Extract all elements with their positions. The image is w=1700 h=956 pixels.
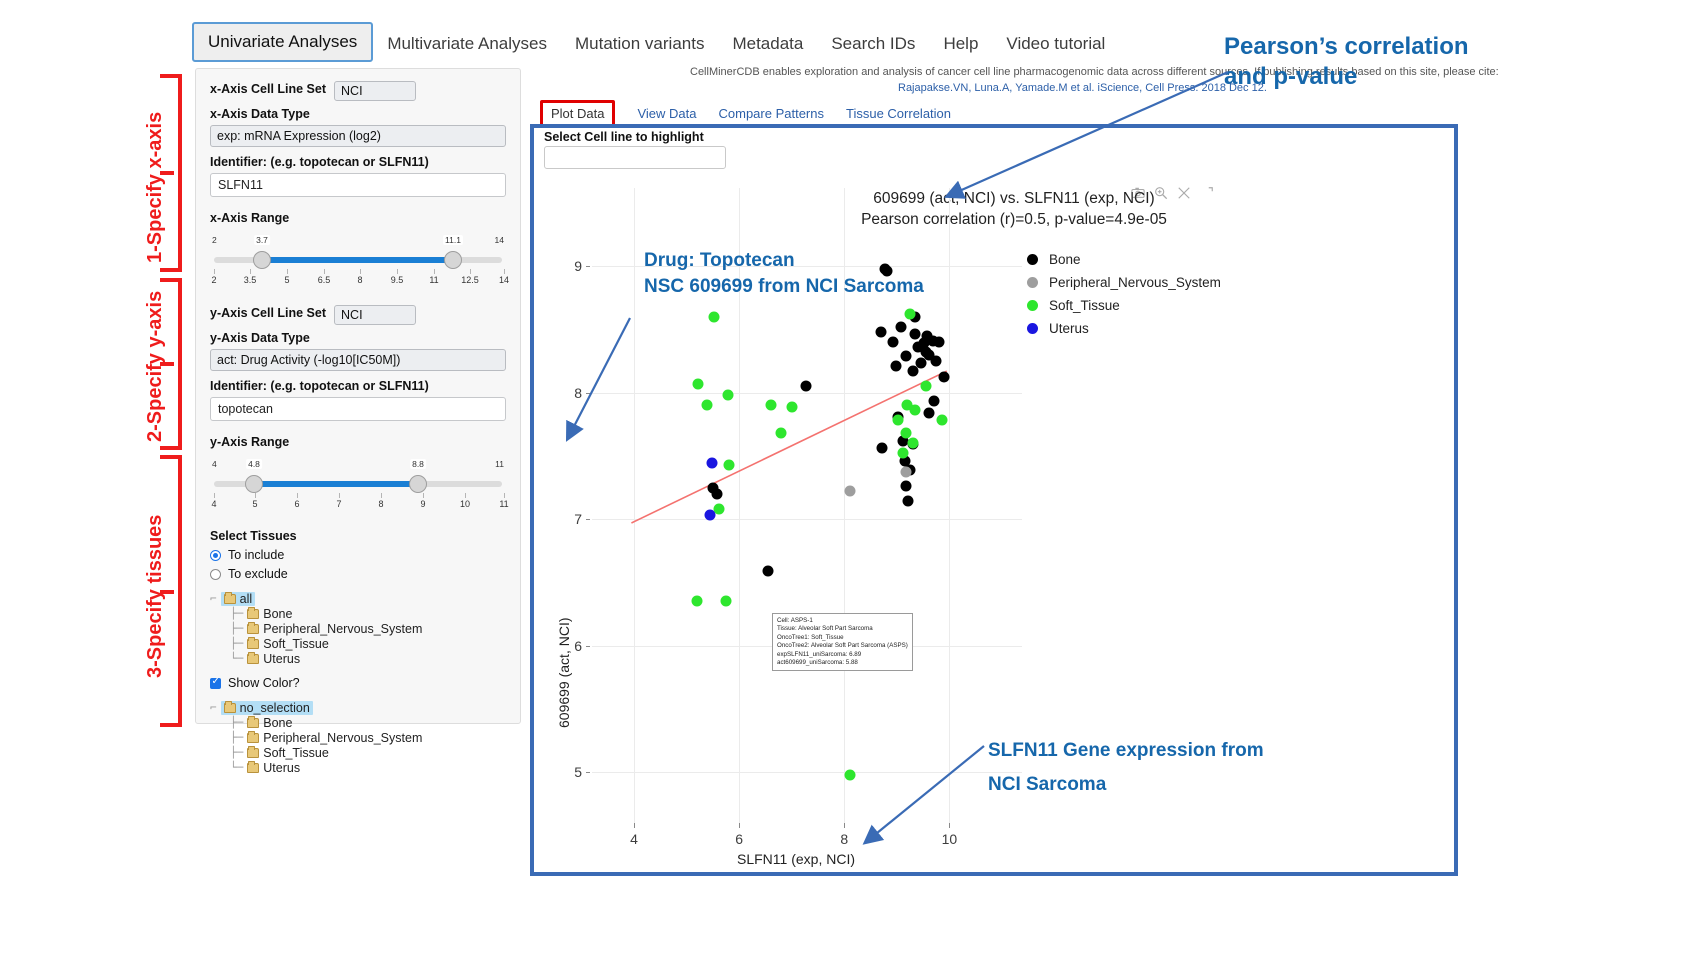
annotation-drug-line2: NSC 609699 from NCI Sarcoma	[644, 274, 924, 300]
tree2-node-uterus[interactable]: └─ Uterus	[210, 760, 506, 775]
y-axis-identifier-label: Identifier: (e.g. topotecan or SLFN11)	[210, 379, 506, 393]
tree-line-icon: ├─	[230, 622, 243, 635]
x-range-min-edge: 2	[212, 235, 217, 245]
folder-icon	[224, 594, 236, 604]
scatter-point-bone[interactable]	[901, 481, 912, 492]
tree2-node-soft-tissue-label: Soft_Tissue	[263, 746, 329, 760]
scatter-point-soft-tissue[interactable]	[776, 428, 787, 439]
scatter-point-soft-tissue[interactable]	[920, 381, 931, 392]
x-tick-mark	[634, 823, 635, 828]
scatter-point-soft-tissue[interactable]	[892, 415, 903, 426]
tree-node-bone-label: Bone	[263, 607, 292, 621]
annotation-pearson-line1: Pearson’s correlation	[1224, 32, 1469, 62]
y-tick-mark	[586, 646, 590, 647]
tree-node-soft-tissue-label: Soft_Tissue	[263, 637, 329, 651]
folder-icon	[247, 763, 259, 773]
scatter-point-soft-tissue[interactable]	[765, 400, 776, 411]
radio-to-exclude[interactable]: To exclude	[210, 567, 506, 581]
scatter-point-soft-tissue[interactable]	[844, 769, 855, 780]
x-tick-mark	[844, 823, 845, 828]
tree2-node-soft-tissue[interactable]: ├─ Soft_Tissue	[210, 745, 506, 760]
y-slider-high-knob[interactable]	[409, 475, 427, 493]
x-axis-cell-line-set-select[interactable]: NCI	[334, 81, 416, 101]
x-slider-high-knob[interactable]	[444, 251, 462, 269]
scatter-point-bone[interactable]	[890, 360, 901, 371]
x-slider-ticks: 2 3.5 5 6.5 8 9.5 11 12.5 14	[210, 269, 506, 289]
scatter-point-bone[interactable]	[928, 396, 939, 407]
tree-node-soft-tissue[interactable]: ├─ Soft_Tissue	[210, 636, 506, 651]
tree-line-icon: ├─	[230, 731, 243, 744]
y-slider-low-value: 4.8	[246, 459, 262, 469]
annotation-gene: SLFN11 Gene expression from NCI Sarcoma	[988, 738, 1264, 798]
folder-icon	[247, 748, 259, 758]
scatter-point-soft-tissue[interactable]	[693, 378, 704, 389]
annotation-gene-line1: SLFN11 Gene expression from	[988, 738, 1264, 764]
y-slider-high-value: 8.8	[410, 459, 426, 469]
scatter-point-soft-tissue[interactable]	[723, 459, 734, 470]
scatter-point-bone[interactable]	[901, 350, 912, 361]
select-tissues-title: Select Tissues	[210, 529, 506, 543]
nav-tab-video-tutorial[interactable]: Video tutorial	[992, 26, 1119, 62]
scatter-point-bone[interactable]	[801, 381, 812, 392]
checkbox-icon[interactable]	[210, 678, 221, 689]
annotation-step1: 1-Specify x-axis	[144, 112, 167, 263]
radio-include-icon	[210, 550, 221, 561]
annotation-drug: Drug: Topotecan NSC 609699 from NCI Sarc…	[644, 248, 924, 300]
scatter-point-bone[interactable]	[933, 336, 944, 347]
tree2-node-no-selection[interactable]: ⌐ no_selection	[210, 700, 506, 715]
trend-line	[631, 371, 946, 523]
x-slider-low-value: 3.7	[254, 235, 270, 245]
tree2-node-no-selection-label: no_selection	[240, 701, 310, 715]
y-tick-label: 9	[550, 258, 582, 274]
annotation-drug-line1: Drug: Topotecan	[644, 248, 924, 274]
scatter-point-bone[interactable]	[931, 355, 942, 366]
scatter-point-bone[interactable]	[920, 347, 931, 358]
radio-to-include[interactable]: To include	[210, 548, 506, 562]
y-axis-cell-line-set-label: y-Axis Cell Line Set	[210, 306, 326, 320]
scatter-point-soft-tissue[interactable]	[786, 401, 797, 412]
y-axis-identifier-input[interactable]	[210, 397, 506, 421]
y-tick-mark	[586, 266, 590, 267]
y-tick-label: 7	[550, 511, 582, 527]
y-gridline	[592, 772, 1022, 773]
tooltip-line-cell: Cell: ASPS-1	[777, 617, 908, 625]
x-gridline	[949, 188, 950, 823]
x-slider-fill	[262, 257, 452, 263]
tree-node-pns-label: Peripheral_Nervous_System	[263, 622, 422, 636]
x-tick-label: 10	[942, 831, 958, 847]
nav-tab-univariate-analyses[interactable]: Univariate Analyses	[192, 22, 373, 62]
y-slider-ticks: 4 5 6 7 8 9 10 11	[210, 493, 506, 513]
nav-tab-help[interactable]: Help	[929, 26, 992, 62]
tree-node-uterus[interactable]: └─ Uterus	[210, 651, 506, 666]
scatter-point-bone[interactable]	[910, 329, 921, 340]
x-axis-title: SLFN11 (exp, NCI)	[737, 851, 855, 867]
tree2-node-uterus-label: Uterus	[263, 761, 300, 775]
annotation-gene-line2: NCI Sarcoma	[988, 772, 1264, 798]
tree-expander-icon[interactable]: ⌐	[210, 592, 217, 605]
y-gridline	[592, 519, 1022, 520]
scatter-point-bone[interactable]	[888, 336, 899, 347]
y-tick-mark	[586, 393, 590, 394]
scatter-point-soft-tissue[interactable]	[907, 438, 918, 449]
scatter-point-uterus[interactable]	[706, 458, 717, 469]
tree-node-uterus-label: Uterus	[263, 652, 300, 666]
tooltip-line-act: act609699_uniSarcoma: 5.88	[777, 659, 908, 667]
tooltip-line-oncotree2: OncoTree2: Alveolar Soft Part Sarcoma (A…	[777, 642, 908, 650]
y-axis-title: 609699 (act, NCI)	[556, 618, 572, 729]
tree2-node-pns-label: Peripheral_Nervous_System	[263, 731, 422, 745]
scatter-point-soft-tissue[interactable]	[722, 390, 733, 401]
y-axis-data-type-select[interactable]: act: Drug Activity (-log10[IC50M])	[210, 349, 506, 371]
nav-tab-search-ids[interactable]: Search IDs	[817, 26, 929, 62]
tissue-tree-include[interactable]: ⌐ all ├─ Bone ├─ Peripheral_Nervous_Syst…	[210, 591, 506, 666]
tree-line-icon: └─	[230, 652, 243, 665]
tree-line-icon: ├─	[230, 716, 243, 729]
scatter-point-soft-tissue[interactable]	[936, 415, 947, 426]
point-tooltip: Cell: ASPS-1 Tissue: Alveolar Soft Part …	[772, 613, 913, 671]
y-tick-mark	[586, 772, 590, 773]
tissue-tree-color[interactable]: ⌐ no_selection ├─ Bone ├─ Peripheral_Ner…	[210, 700, 506, 775]
tree-line-icon: └─	[230, 761, 243, 774]
tree2-node-peripheral-nervous-system[interactable]: ├─ Peripheral_Nervous_System	[210, 730, 506, 745]
scatter-point-bone[interactable]	[924, 407, 935, 418]
y-tick-mark	[586, 519, 590, 520]
x-tick-mark	[949, 823, 950, 828]
tree2-node-bone-label: Bone	[263, 716, 292, 730]
scatter-point-bone[interactable]	[896, 321, 907, 332]
x-tick-mark	[739, 823, 740, 828]
scatter-point-soft-tissue[interactable]	[708, 311, 719, 322]
annotation-pearson-line2: and p-value	[1224, 62, 1469, 92]
x-slider-low-knob[interactable]	[253, 251, 271, 269]
subtab-view-data[interactable]: View Data	[637, 106, 696, 121]
scatter-point-soft-tissue[interactable]	[898, 448, 909, 459]
x-tick-label: 8	[840, 831, 848, 847]
scatter-point-bone[interactable]	[903, 496, 914, 507]
x-gridline	[634, 188, 635, 823]
radio-exclude-icon	[210, 569, 221, 580]
folder-icon	[224, 703, 236, 713]
x-tick-label: 4	[630, 831, 638, 847]
tooltip-line-oncotree1: OncoTree1: Soft_Tissue	[777, 634, 908, 642]
radio-include-label: To include	[228, 548, 284, 562]
scatter-point-peripheral-nervous-system[interactable]	[900, 467, 911, 478]
scatter-point-soft-tissue[interactable]	[910, 405, 921, 416]
subtab-compare-patterns[interactable]: Compare Patterns	[719, 106, 825, 121]
tree-line-icon: ├─	[230, 607, 243, 620]
tree-line-icon: ├─	[230, 637, 243, 650]
scatter-point-bone[interactable]	[939, 372, 950, 383]
folder-icon	[247, 733, 259, 743]
y-range-min-edge: 4	[212, 459, 217, 469]
annotation-pearson: Pearson’s correlation and p-value	[1224, 32, 1469, 92]
subtab-plot-data[interactable]: Plot Data	[540, 100, 615, 127]
folder-icon	[247, 718, 259, 728]
scatter-point-uterus[interactable]	[705, 510, 716, 521]
x-axis-data-type-select[interactable]: exp: mRNA Expression (log2)	[210, 125, 506, 147]
y-tick-label: 5	[550, 764, 582, 780]
show-color-label: Show Color?	[228, 676, 300, 690]
scatter-point-bone[interactable]	[712, 488, 723, 499]
subtab-tissue-correlation[interactable]: Tissue Correlation	[846, 106, 951, 121]
scatter-point-bone[interactable]	[877, 443, 888, 454]
scatter-point-bone[interactable]	[915, 358, 926, 369]
x-axis-cell-line-set-label: x-Axis Cell Line Set	[210, 82, 326, 96]
annotation-step3: 3-Specify tissues	[144, 515, 167, 678]
x-tick-label: 6	[735, 831, 743, 847]
y-axis-range-label: y-Axis Range	[210, 435, 506, 449]
tree-expander-icon[interactable]: ⌐	[210, 701, 217, 714]
y-axis-cell-line-set-select[interactable]: NCI	[334, 305, 416, 325]
main-navigation[interactable]: Univariate Analyses Multivariate Analyse…	[192, 22, 1119, 62]
y-range-max-edge: 11	[495, 459, 504, 469]
tree2-node-bone[interactable]: ├─ Bone	[210, 715, 506, 730]
y-tick-label: 8	[550, 385, 582, 401]
x-axis-range-slider[interactable]: 2 14 3.7 11.1 2 3.5 5 6.5 8 9.5 11 12.5 …	[210, 235, 506, 287]
control-panel: x-Axis Cell Line Set NCI x-Axis Data Typ…	[195, 68, 521, 724]
tooltip-line-exp: expSLFN11_uniSarcoma: 6.89	[777, 651, 908, 659]
scatter-point-bone[interactable]	[876, 326, 887, 337]
x-axis-data-type-label: x-Axis Data Type	[210, 107, 506, 121]
show-color-checkbox-row[interactable]: Show Color?	[210, 676, 506, 690]
tree-line-icon: ├─	[230, 746, 243, 759]
scatter-point-soft-tissue[interactable]	[701, 400, 712, 411]
nav-tab-mutation-variants[interactable]: Mutation variants	[561, 26, 718, 62]
scatter-point-soft-tissue[interactable]	[721, 596, 732, 607]
y-slider-low-knob[interactable]	[245, 475, 263, 493]
scatter-point-soft-tissue[interactable]	[905, 309, 916, 320]
tree-node-all[interactable]: ⌐ all	[210, 591, 506, 606]
folder-icon	[247, 654, 259, 664]
tooltip-line-tissue: Tissue: Alveolar Soft Part Sarcoma	[777, 625, 908, 633]
tree-node-peripheral-nervous-system[interactable]: ├─ Peripheral_Nervous_System	[210, 621, 506, 636]
tree-node-all-label: all	[240, 592, 253, 606]
y-gridline	[592, 393, 1022, 394]
nav-tab-multivariate-analyses[interactable]: Multivariate Analyses	[373, 26, 561, 62]
x-slider-high-value: 11.1	[443, 235, 463, 245]
radio-exclude-label: To exclude	[228, 567, 288, 581]
tree-node-bone[interactable]: ├─ Bone	[210, 606, 506, 621]
annotation-step2: 2-Specify y-axis	[144, 291, 167, 442]
x-axis-identifier-label: Identifier: (e.g. topotecan or SLFN11)	[210, 155, 506, 169]
app-citation[interactable]: Rajapakse.VN, Luna.A, Yamade.M et al. iS…	[898, 82, 1267, 94]
x-axis-range-label: x-Axis Range	[210, 211, 506, 225]
nav-tab-metadata[interactable]: Metadata	[718, 26, 817, 62]
folder-icon	[247, 609, 259, 619]
scatter-point-bone[interactable]	[763, 566, 774, 577]
x-range-max-edge: 14	[495, 235, 504, 245]
folder-icon	[247, 624, 259, 634]
plot-subtabs[interactable]: Plot Data View Data Compare Patterns Tis…	[540, 100, 951, 127]
scatter-point-peripheral-nervous-system[interactable]	[844, 486, 855, 497]
folder-icon	[247, 639, 259, 649]
y-axis-data-type-label: y-Axis Data Type	[210, 331, 506, 345]
y-axis-range-slider[interactable]: 4 11 4.8 8.8 4 5 6 7 8 9 10 11	[210, 459, 506, 511]
x-axis-identifier-input[interactable]	[210, 173, 506, 197]
y-slider-fill	[254, 481, 417, 487]
scatter-point-soft-tissue[interactable]	[692, 596, 703, 607]
